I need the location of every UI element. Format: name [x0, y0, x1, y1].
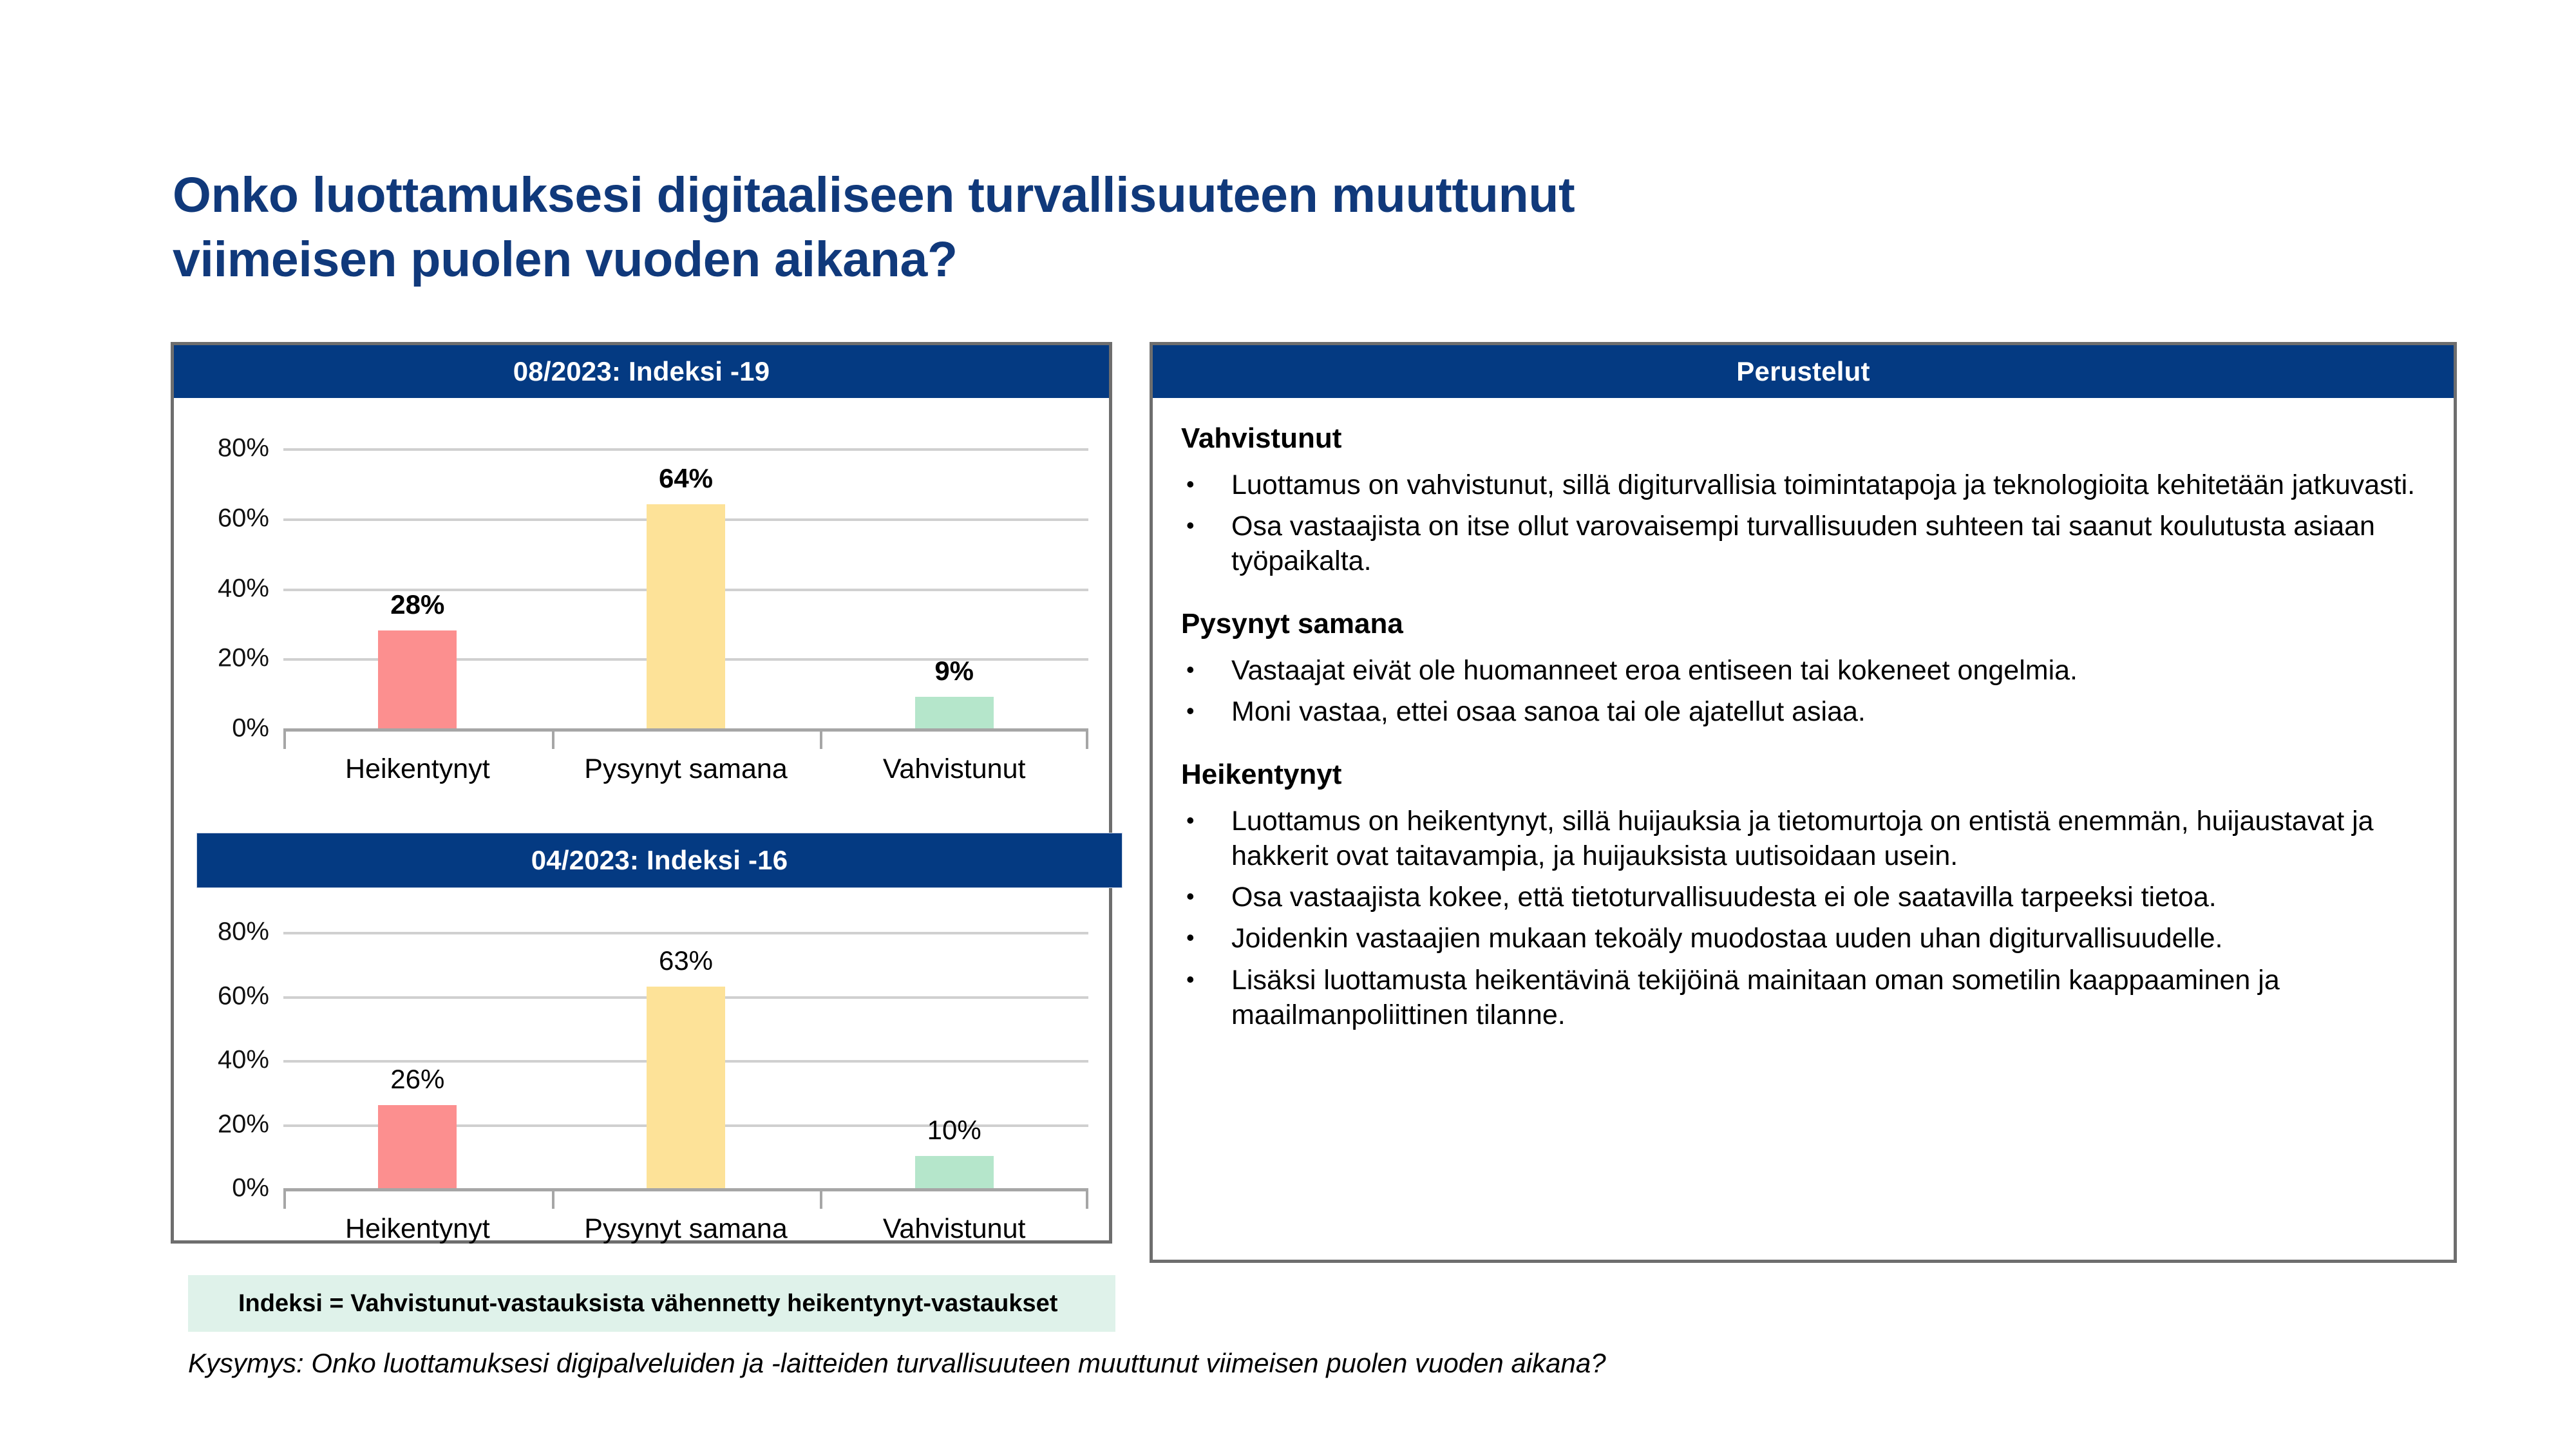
reasons-section-pysynyt-samana: Pysynyt samana • Vastaajat eivät ole huo… [1181, 607, 2434, 729]
x-label-vahvistunut: Vahvistunut [820, 753, 1088, 785]
bar-cell-vahvistunut: 10% [820, 932, 1088, 1188]
reasons-body: Vahvistunut • Luottamus on vahvistunut, … [1181, 421, 2434, 1039]
chart-2-plot-area: 80% 60% 40% 20% 0% 26% [283, 932, 1088, 1188]
reasons-bullet-text: Osa vastaajista on itse ollut varovaisem… [1231, 509, 2434, 578]
chart-1-bars: 28% 64% 9% [283, 448, 1088, 728]
reasons-bullet: • Osa vastaajista on itse ollut varovais… [1181, 509, 2434, 578]
x-axis-segment [283, 1191, 552, 1209]
x-label-heikentynyt: Heikentynyt [283, 1213, 552, 1245]
x-label-pysynyt-samana: Pysynyt samana [552, 1213, 820, 1245]
reasons-section-heading: Vahvistunut [1181, 421, 2434, 456]
chart-2-title: 04/2023: Indeksi -16 [531, 847, 788, 874]
reasons-header-label: Perustelut [1736, 358, 1870, 385]
bar-value-label: 28% [390, 589, 444, 620]
index-note-box: Indeksi = Vahvistunut-vastauksista vähen… [188, 1275, 1115, 1332]
reasons-bullet-text: Lisäksi luottamusta heikentävinä tekijöi… [1231, 963, 2434, 1032]
index-note-text: Indeksi = Vahvistunut-vastauksista vähen… [188, 1290, 1057, 1318]
x-axis-segment [820, 732, 1088, 749]
slide-canvas: Onko luottamuksesi digitaaliseen turvall… [0, 0, 2576, 1449]
chart-1: 80% 60% 40% 20% 0% 28% [174, 398, 1109, 833]
ytick-label-20: 20% [218, 644, 269, 673]
reasons-bullet-text: Vastaajat eivät ole huomanneet eroa enti… [1231, 653, 2434, 688]
ytick-label-60: 60% [218, 504, 269, 533]
chart-1-x-labels: Heikentynyt Pysynyt samana Vahvistunut [283, 753, 1088, 785]
ytick-label-0: 0% [232, 1174, 269, 1203]
bar-cell-pysynyt-samana: 64% [552, 448, 820, 728]
bar-value-label: 9% [934, 656, 974, 687]
bullet-dot-icon: • [1181, 880, 1231, 913]
ytick-label-20: 20% [218, 1110, 269, 1139]
bar-vahvistunut[interactable]: 10% [915, 1156, 994, 1188]
page-title-line-1: Onko luottamuksesi digitaaliseen turvall… [173, 163, 2105, 227]
chart-1-title: 08/2023: Indeksi -19 [513, 358, 770, 385]
chart-2-x-labels: Heikentynyt Pysynyt samana Vahvistunut [283, 1213, 1088, 1245]
bar-value-label: 26% [390, 1064, 444, 1095]
ytick-label-0: 0% [232, 714, 269, 743]
bar-cell-pysynyt-samana: 63% [552, 932, 820, 1188]
bullet-dot-icon: • [1181, 694, 1231, 727]
reasons-bullet: • Osa vastaajista kokee, että tietoturva… [1181, 880, 2434, 914]
reasons-section-heading: Pysynyt samana [1181, 607, 2434, 641]
reasons-bullet-text: Luottamus on heikentynyt, sillä huijauks… [1231, 804, 2434, 873]
reasons-bullet: • Lisäksi luottamusta heikentävinä tekij… [1181, 963, 2434, 1032]
x-label-vahvistunut: Vahvistunut [820, 1213, 1088, 1245]
x-label-heikentynyt: Heikentynyt [283, 753, 552, 785]
chart-2: 80% 60% 40% 20% 0% 26% [174, 888, 1109, 1240]
reasons-header: Perustelut [1153, 345, 2454, 398]
reasons-bullet-text: Luottamus on vahvistunut, sillä digiturv… [1231, 468, 2434, 502]
reasons-bullet: • Luottamus on vahvistunut, sillä digitu… [1181, 468, 2434, 502]
bullet-dot-icon: • [1181, 509, 1231, 542]
reasons-bullet: • Luottamus on heikentynyt, sillä huijau… [1181, 804, 2434, 873]
reasons-section-vahvistunut: Vahvistunut • Luottamus on vahvistunut, … [1181, 421, 2434, 578]
chart-1-x-axis [283, 728, 1088, 749]
x-axis-segment [820, 1191, 1088, 1209]
x-axis-segment [552, 1191, 820, 1209]
bullet-dot-icon: • [1181, 963, 1231, 996]
bar-value-label: 64% [659, 463, 713, 494]
ytick-label-60: 60% [218, 981, 269, 1010]
question-footer: Kysymys: Onko luottamuksesi digipalvelui… [188, 1348, 1606, 1379]
bar-value-label: 63% [659, 945, 713, 976]
ytick-label-80: 80% [218, 918, 269, 947]
bar-heikentynyt[interactable]: 28% [378, 630, 457, 728]
x-axis-segment [283, 732, 552, 749]
chart-2-bars: 26% 63% 10% [283, 932, 1088, 1188]
reasons-panel: Perustelut Vahvistunut • Luottamus on va… [1150, 342, 2457, 1263]
reasons-bullet: • Vastaajat eivät ole huomanneet eroa en… [1181, 653, 2434, 688]
reasons-section-heikentynyt: Heikentynyt • Luottamus on heikentynyt, … [1181, 757, 2434, 1032]
page-title-line-2: viimeisen puolen vuoden aikana? [173, 227, 2105, 292]
bar-heikentynyt[interactable]: 26% [378, 1105, 457, 1188]
reasons-bullet-text: Osa vastaajista kokee, että tietoturvall… [1231, 880, 2434, 914]
bar-cell-vahvistunut: 9% [820, 448, 1088, 728]
bar-pysynyt-samana[interactable]: 64% [647, 504, 725, 728]
chart-1-header: 08/2023: Indeksi -19 [174, 345, 1109, 398]
chart-2-x-axis [283, 1188, 1088, 1209]
bar-cell-heikentynyt: 26% [283, 932, 552, 1188]
bar-pysynyt-samana[interactable]: 63% [647, 987, 725, 1188]
reasons-bullet: • Moni vastaa, ettei osaa sanoa tai ole … [1181, 694, 2434, 729]
bullet-dot-icon: • [1181, 653, 1231, 686]
page-title: Onko luottamuksesi digitaaliseen turvall… [173, 163, 2105, 292]
bar-vahvistunut[interactable]: 9% [915, 697, 994, 728]
chart-2-header: 04/2023: Indeksi -16 [196, 833, 1122, 888]
chart-1-plot-area: 80% 60% 40% 20% 0% 28% [283, 448, 1088, 728]
ytick-label-80: 80% [218, 434, 269, 463]
bar-cell-heikentynyt: 28% [283, 448, 552, 728]
reasons-bullet: • Joidenkin vastaajien mukaan tekoäly mu… [1181, 921, 2434, 956]
x-axis-segment [552, 732, 820, 749]
bullet-dot-icon: • [1181, 921, 1231, 954]
reasons-bullet-text: Moni vastaa, ettei osaa sanoa tai ole aj… [1231, 694, 2434, 729]
bullet-dot-icon: • [1181, 468, 1231, 500]
bar-value-label: 10% [927, 1115, 981, 1146]
bullet-dot-icon: • [1181, 804, 1231, 837]
charts-panel: 08/2023: Indeksi -19 80% 60% 40% 20% 0% [171, 342, 1112, 1244]
x-label-pysynyt-samana: Pysynyt samana [552, 753, 820, 785]
reasons-section-heading: Heikentynyt [1181, 757, 2434, 792]
reasons-bullet-text: Joidenkin vastaajien mukaan tekoäly muod… [1231, 921, 2434, 956]
ytick-label-40: 40% [218, 574, 269, 603]
ytick-label-40: 40% [218, 1046, 269, 1075]
